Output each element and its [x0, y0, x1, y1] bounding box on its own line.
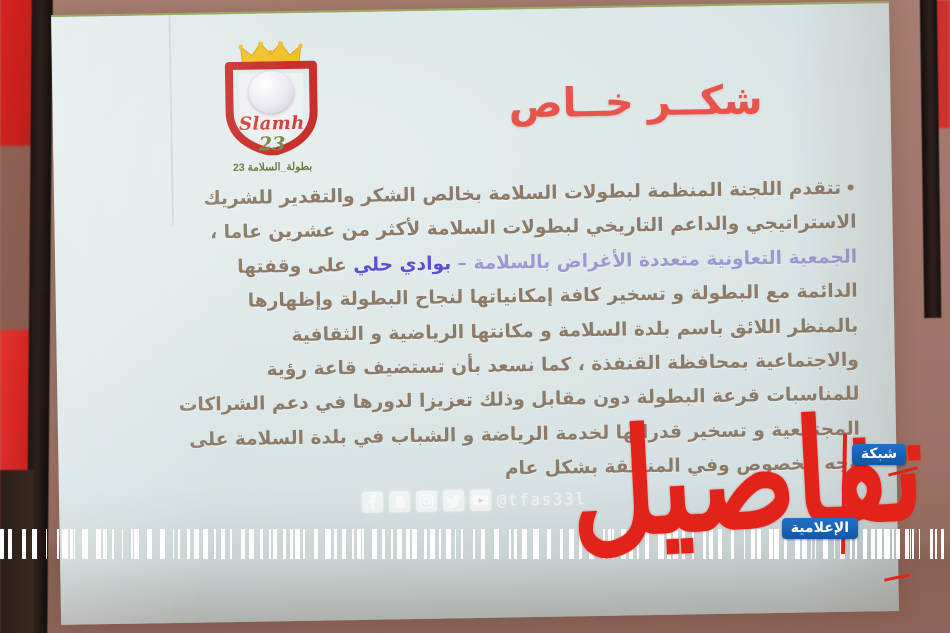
body-line-6-text: والاجتماعية بمحافظة القنفذة ، كما نسعد ب… [266, 350, 859, 381]
facebook-icon[interactable] [362, 492, 383, 513]
body-line-3-org: الجمعية التعاونية متعددة الأغراض بالسلام… [451, 246, 857, 274]
barcode-bar [551, 529, 560, 559]
barcode-bar [318, 529, 325, 559]
body-line-4-text: الدائمة مع البطولة و تسخير كافة إمكانيات… [248, 281, 858, 312]
twitter-icon[interactable] [443, 490, 464, 511]
body-line-3-place: بوادي حلي [353, 253, 451, 276]
barcode-bar [232, 529, 241, 559]
youtube-icon[interactable] [469, 490, 490, 511]
barcode-bar [152, 529, 160, 559]
barcode-bar [75, 529, 82, 559]
barcode-bar [47, 529, 57, 559]
barcode-bar [305, 529, 314, 559]
body-line-5-text: بالمنظر اللائق باسم بلدة السلامة و مكانت… [291, 315, 858, 345]
watermark-script-logo: تفاصيل [567, 410, 926, 546]
logo-year: 23 [213, 132, 331, 156]
barcode-bar [88, 529, 96, 559]
barcode-bar [165, 529, 173, 559]
barcode-bar [37, 529, 46, 559]
barcode-bar [139, 529, 147, 559]
tournament-logo: Slamh 23 بطولة_السلامة 23 [211, 40, 331, 182]
barcode-bar [463, 529, 473, 559]
body-line-2-text: الاستراتيجي والداعم التاريخي لبطولات الس… [210, 212, 857, 244]
barcode-bar [364, 529, 372, 559]
broadcaster-watermark: تفاصيل شبكة الإعلامية [772, 426, 932, 611]
barcode-bar [180, 529, 187, 559]
barcode-bar [499, 529, 509, 559]
barcode-bar [12, 529, 22, 559]
bullet-glyph: • [845, 179, 856, 199]
barcode-bar [346, 529, 353, 559]
body-line-1-text: تتقدم اللجنة المنظمة لبطولات السلامة بخا… [203, 178, 841, 210]
barcode-bar [944, 529, 950, 559]
slide-header: Slamh 23 بطولة_السلامة 23 شكــر خــاص [51, 25, 891, 179]
logo-hashtag: بطولة_السلامة 23 [213, 160, 331, 174]
barcode-bar [539, 529, 547, 559]
body-line-3-tail: على وقفتها [237, 255, 353, 278]
slide-title: شكــر خــاص [508, 77, 762, 127]
watermark-tick-bottom [884, 573, 910, 581]
barcode-bar [114, 529, 123, 559]
watermark-badge-network: شبكة [852, 444, 906, 465]
barcode-bar [417, 529, 424, 559]
snapchat-icon[interactable] [389, 491, 410, 512]
projector-room-photo: Slamh 23 بطولة_السلامة 23 شكــر خــاص •ت… [0, 0, 950, 633]
instagram-icon[interactable] [416, 491, 437, 512]
watermark-badge-media: الإعلامية [782, 518, 858, 539]
barcode-bar [123, 529, 131, 559]
barcode-bar [485, 529, 494, 559]
